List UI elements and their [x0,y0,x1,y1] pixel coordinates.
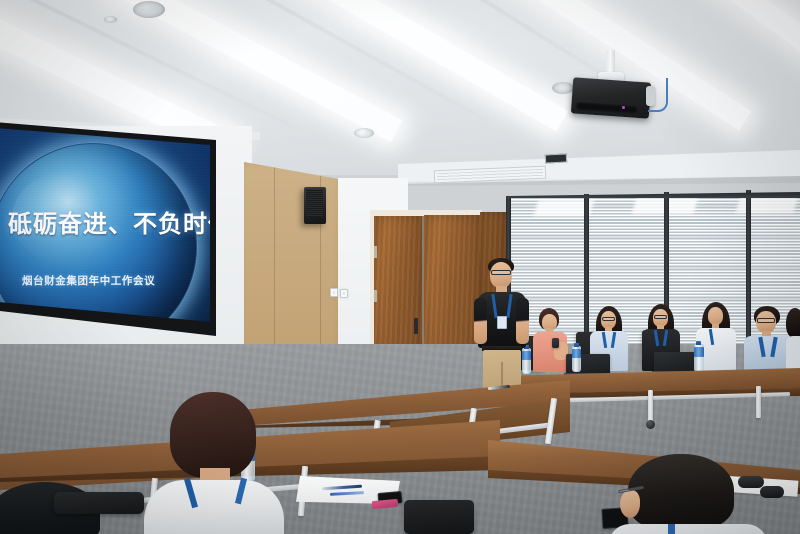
ceiling-light-strip-3 [288,0,568,132]
presenter-head [490,262,512,288]
attendee-3-glasses [654,315,667,319]
attendee-1 [530,308,570,370]
foreground-3-hair [628,454,734,530]
attendee-5-glasses [757,318,775,323]
projector-cable-clamp [646,86,655,106]
foreground-1-hair [170,392,256,478]
wall-speaker [304,187,326,224]
ceiling-downlight-1 [354,128,374,138]
door-hinge-upper [374,246,377,258]
blinds-light-reflection-3 [735,196,799,213]
ceiling-vent-square [545,153,567,163]
chair-front-left [54,492,144,514]
wall-speaker-grille [306,189,323,217]
foreground-3-lanyard [668,524,675,534]
water-bottle-rear-2-cap [574,343,579,347]
chair-foreground-right [404,500,474,534]
water-bottle-rear-2[interactable] [572,346,581,372]
foreground-1-torso [144,480,284,534]
ceiling-speaker-2 [552,82,574,94]
table-rear-caster-2 [646,420,655,429]
water-bottle-rear-3[interactable] [694,344,704,372]
projection-screen[interactable]: 砥砺奋进、不负时代 烟台财金集团年中工作会议 烟台财金集团 [0,128,210,330]
light-switch-panel-center-a[interactable] [330,288,338,297]
presenter-glasses [491,270,511,275]
projector-body [571,77,651,118]
attendee-6-torso [786,336,800,370]
attendee-shoe-2 [760,486,784,498]
presenter-arm-left [474,298,487,344]
attendee-shoe-1 [738,476,764,488]
water-bottle-rear-2-label [572,349,581,358]
water-bottle-rear-3-cap [696,341,701,345]
attendee-6-partial [786,308,800,368]
slide-title: 砥砺奋进、不负时代 [8,204,210,239]
ceiling-speaker-1 [133,1,165,18]
table-rear-leg-2 [648,390,653,422]
slide-subtitle: 烟台财金集团年中工作会议 [22,273,155,288]
window-head-rail [506,192,800,198]
ceiling-downlight-6 [104,16,117,23]
foreground-person-3 [612,454,762,534]
presenter-arm-right [516,298,529,344]
foreground-3-ear [620,490,640,518]
foreground-person-1 [150,392,280,534]
door-hinge-mid [374,290,377,302]
vent-grille-slats [437,169,543,180]
door-handle[interactable] [414,318,418,334]
foreground-3-torso [608,524,768,534]
presenter-badge [497,316,507,329]
water-bottle-rear-3-label [694,347,704,357]
projector-indicator-led [622,106,625,109]
attendee-6-hair [786,308,800,338]
attendee-2-glasses [602,317,615,321]
laptop-2-lid [654,352,698,372]
attendee-1-phone[interactable] [552,338,559,348]
light-switch-panel-center-b[interactable] [340,289,348,298]
conference-room-photo: 砥砺奋进、不负时代 烟台财金集团年中工作会议 烟台财金集团 [0,0,800,534]
table-rear-leg-3 [756,386,761,418]
